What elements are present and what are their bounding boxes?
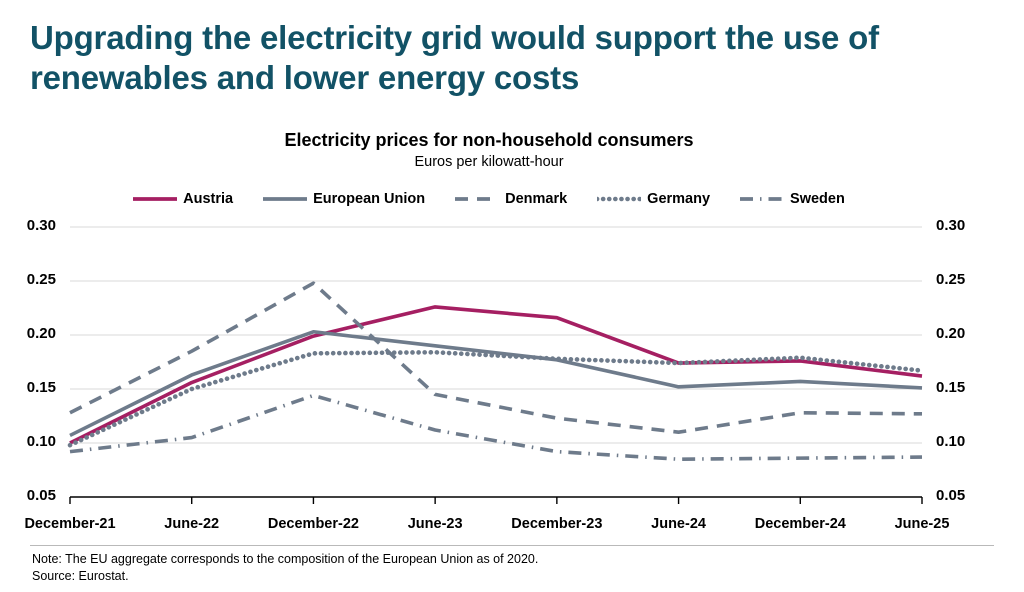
footnote-divider bbox=[30, 545, 994, 546]
legend-item-sweden[interactable]: Sweden bbox=[740, 191, 845, 207]
legend-item-denmark[interactable]: Denmark bbox=[455, 191, 567, 207]
x-tick-label: June-24 bbox=[651, 516, 706, 532]
y-tick-label: 0.25 bbox=[0, 271, 56, 288]
chart-subtitle: Euros per kilowatt-hour bbox=[0, 154, 978, 170]
y-tick-label: 0.20 bbox=[0, 325, 56, 342]
legend-swatch-dotted bbox=[597, 192, 641, 206]
legend-item-european-union[interactable]: European Union bbox=[263, 191, 425, 207]
legend-item-austria[interactable]: Austria bbox=[133, 191, 233, 207]
y-tick-label: 0.05 bbox=[936, 487, 1016, 504]
legend-label: Sweden bbox=[790, 191, 845, 207]
chart-legend: AustriaEuropean UnionDenmarkGermanySwede… bbox=[0, 191, 978, 207]
legend-label: European Union bbox=[313, 191, 425, 207]
plot-area: 0.050.100.150.200.250.30 0.050.100.150.2… bbox=[0, 214, 1024, 514]
x-tick-label: December-24 bbox=[755, 516, 846, 532]
y-tick-label: 0.15 bbox=[0, 379, 56, 396]
y-tick-label: 0.10 bbox=[0, 433, 56, 450]
legend-item-germany[interactable]: Germany bbox=[597, 191, 710, 207]
x-tick-label: June-22 bbox=[164, 516, 219, 532]
legend-label: Austria bbox=[183, 191, 233, 207]
legend-swatch-solid bbox=[133, 192, 177, 206]
x-tick-label: June-23 bbox=[408, 516, 463, 532]
series-line-germany bbox=[70, 352, 922, 445]
chart-page: Upgrading the electricity grid would sup… bbox=[0, 0, 1024, 592]
legend-label: Denmark bbox=[505, 191, 567, 207]
y-tick-label: 0.05 bbox=[0, 487, 56, 504]
legend-swatch-dashed bbox=[455, 192, 499, 206]
x-axis-labels: December-21June-22December-22June-23Dece… bbox=[0, 516, 1024, 540]
line-chart-svg bbox=[0, 214, 1024, 514]
page-headline: Upgrading the electricity grid would sup… bbox=[30, 18, 990, 99]
legend-swatch-solid bbox=[263, 192, 307, 206]
series-line-austria bbox=[70, 307, 922, 443]
y-tick-label: 0.25 bbox=[936, 271, 1016, 288]
x-tick-label: June-25 bbox=[895, 516, 950, 532]
x-tick-label: December-21 bbox=[24, 516, 115, 532]
y-tick-label: 0.30 bbox=[0, 217, 56, 234]
y-tick-label: 0.30 bbox=[936, 217, 1016, 234]
x-tick-label: December-23 bbox=[511, 516, 602, 532]
y-tick-label: 0.20 bbox=[936, 325, 1016, 342]
footnote-note: Note: The EU aggregate corresponds to th… bbox=[32, 551, 538, 568]
x-tick-label: December-22 bbox=[268, 516, 359, 532]
chart-title: Electricity prices for non-household con… bbox=[0, 130, 978, 151]
legend-swatch-dashdot bbox=[740, 192, 784, 206]
series-line-sweden bbox=[70, 395, 922, 459]
y-tick-label: 0.15 bbox=[936, 379, 1016, 396]
y-tick-label: 0.10 bbox=[936, 433, 1016, 450]
footnote-source: Source: Eurostat. bbox=[32, 568, 538, 585]
footnote-block: Note: The EU aggregate corresponds to th… bbox=[32, 551, 538, 585]
legend-label: Germany bbox=[647, 191, 710, 207]
